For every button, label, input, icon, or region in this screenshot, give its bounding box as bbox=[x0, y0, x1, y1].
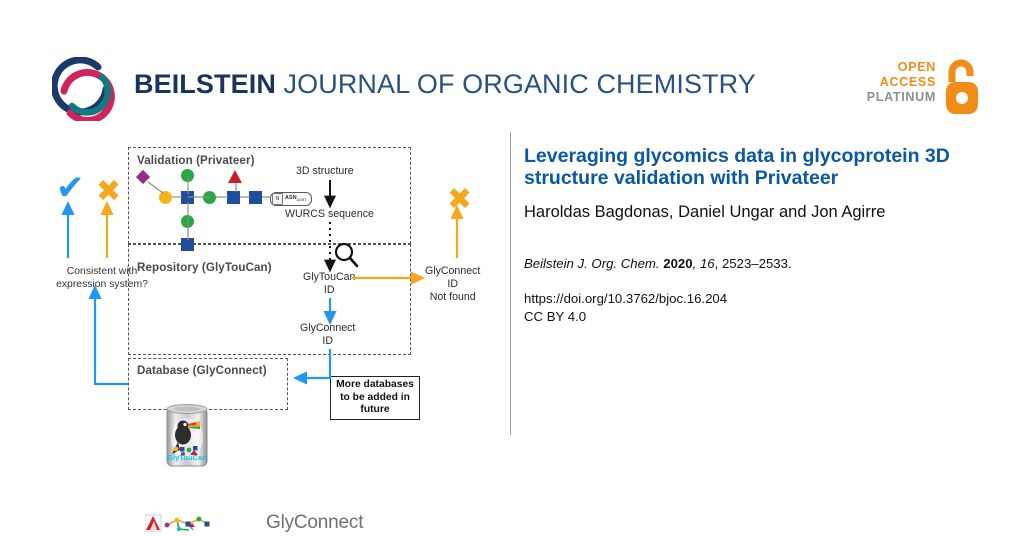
poster-page: BEILSTEIN JOURNAL OF ORGANIC CHEMISTRY O… bbox=[0, 0, 1024, 512]
glytoucan-id-line2: ID bbox=[324, 284, 335, 296]
citation-pages: 2523–2533. bbox=[722, 256, 792, 271]
database-section-label: Database (GlyConnect) bbox=[137, 364, 267, 377]
citation-year: 2020 bbox=[663, 256, 692, 271]
glcnac-node-2 bbox=[227, 191, 240, 204]
article-citation: Beilstein J. Org. Chem. 2020, 16, 2523–2… bbox=[524, 255, 984, 273]
open-access-text: OPEN ACCESS PLATINUM bbox=[867, 60, 936, 105]
glcnac-node-1 bbox=[181, 191, 194, 204]
citation-journal: Beilstein J. Org. Chem. bbox=[524, 256, 660, 271]
glyconnect-id-line2: ID bbox=[322, 335, 333, 347]
galactose-node bbox=[159, 191, 172, 204]
glyconnect-logo: GlyConnect bbox=[145, 510, 363, 536]
journal-title-bold: BEILSTEIN bbox=[134, 69, 276, 99]
label-wurcs-sequence: WURCS sequence bbox=[285, 208, 374, 221]
label-glyconnect-not-found: GlyConnect ID Not found bbox=[425, 265, 480, 304]
oa-line-platinum: PLATINUM bbox=[867, 90, 936, 105]
future-databases-note: More databases to be added in future bbox=[330, 376, 420, 420]
article-license: CC BY 4.0 bbox=[524, 309, 586, 324]
glyconnect-logo-text: GlyConnect bbox=[266, 512, 363, 534]
not-found-line3: Not found bbox=[430, 291, 476, 303]
journal-masthead: BEILSTEIN JOURNAL OF ORGANIC CHEMISTRY bbox=[52, 55, 652, 125]
expression-system-question: Consistent with expression system? bbox=[47, 266, 157, 291]
article-doi[interactable]: https://doi.org/10.3762/bjoc.16.204 bbox=[524, 291, 727, 306]
article-title: Leveraging glycomics data in glycoprotei… bbox=[524, 145, 984, 189]
repository-section-label: Repository (GlyTouCan) bbox=[137, 261, 272, 274]
not-found-line1: GlyConnect bbox=[425, 265, 480, 277]
fucose-node bbox=[228, 170, 242, 183]
mannose-node-1 bbox=[181, 169, 194, 182]
open-padlock-icon bbox=[942, 58, 982, 116]
orange-cross-icon-left: ✖ bbox=[96, 177, 121, 207]
not-found-line2: ID bbox=[447, 278, 458, 290]
journal-title-rest: JOURNAL OF ORGANIC CHEMISTRY bbox=[276, 69, 756, 99]
citation-sep-2: , bbox=[715, 256, 722, 271]
blue-check-icon: ✔ bbox=[56, 171, 85, 205]
beilstein-spiral-logo bbox=[52, 57, 116, 121]
journal-title: BEILSTEIN JOURNAL OF ORGANIC CHEMISTRY bbox=[134, 69, 756, 100]
oa-line-access: ACCESS bbox=[867, 75, 936, 90]
oa-line-open: OPEN bbox=[867, 60, 936, 75]
mannose-node-3 bbox=[203, 191, 216, 204]
asn-residue-label: N ASNA/287 bbox=[270, 192, 312, 206]
label-3d-structure: 3D structure bbox=[296, 165, 354, 178]
article-doi-block: https://doi.org/10.3762/bjoc.16.204 CC B… bbox=[524, 290, 984, 326]
article-info: Leveraging glycomics data in glycoprotei… bbox=[524, 145, 984, 326]
workflow-figure: Validation (Privateer) Repository (GlyTo… bbox=[0, 130, 510, 440]
glytoucan-id-line1: GlyTouCan bbox=[303, 271, 355, 283]
glytoucan-can-logo: GlyTouCan bbox=[160, 402, 214, 472]
citation-sep-1: , bbox=[693, 256, 700, 271]
glcnac-node-3 bbox=[249, 191, 262, 204]
label-glytoucan-id: GlyTouCan ID bbox=[303, 271, 355, 297]
svg-text:GlyTouCan: GlyTouCan bbox=[167, 453, 207, 462]
article-authors: Haroldas Bagdonas, Daniel Ungar and Jon … bbox=[524, 202, 984, 222]
validation-section-label: Validation (Privateer) bbox=[137, 154, 255, 167]
open-access-badge: OPEN ACCESS PLATINUM bbox=[872, 58, 982, 120]
glyconnect-id-line1: GlyConnect bbox=[300, 322, 355, 334]
mannose-node-2 bbox=[181, 215, 194, 228]
orange-cross-icon-right: ✖ bbox=[447, 185, 472, 215]
glcnac-node-4 bbox=[181, 238, 194, 251]
column-divider bbox=[510, 132, 511, 435]
citation-volume: 16 bbox=[700, 256, 715, 271]
label-glyconnect-id: GlyConnect ID bbox=[300, 322, 355, 348]
future-databases-text: More databases to be added in future bbox=[331, 379, 419, 417]
asn-text: ASNA/287 bbox=[285, 195, 307, 202]
asn-n-letter: N bbox=[272, 193, 283, 205]
